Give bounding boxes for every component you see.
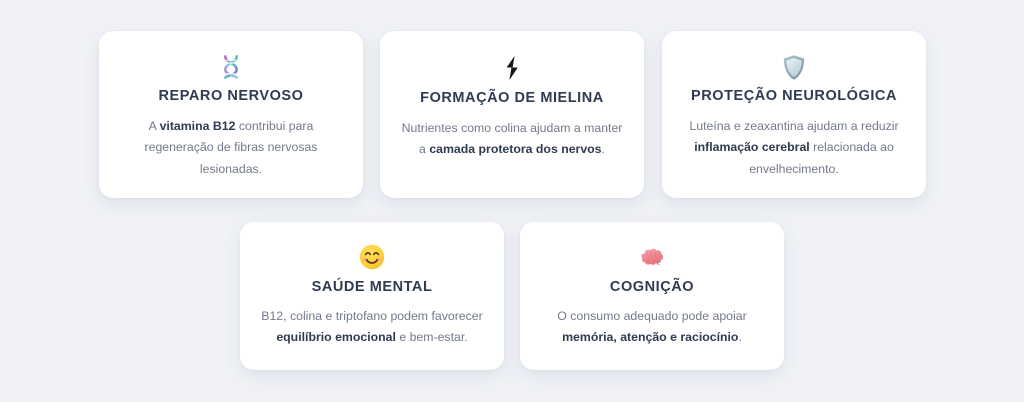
emphasis-text: vitamina B12 [160, 119, 236, 133]
emphasis-text: inflamação cerebral [694, 140, 810, 154]
emphasis-text: equilíbrio emocional [276, 330, 396, 344]
shield-icon [782, 53, 806, 81]
benefit-card-title: FORMAÇÃO DE MIELINA [420, 89, 604, 107]
benefit-card-title: PROTEÇÃO NEUROLÓGICA [691, 87, 897, 105]
benefit-card-title: SAÚDE MENTAL [312, 278, 433, 296]
emphasis-text: memória, atenção e raciocínio [562, 330, 738, 344]
brain-icon [639, 242, 666, 272]
smiling-face-icon [359, 242, 385, 272]
benefit-card[interactable]: PROTEÇÃO NEUROLÓGICA Luteína e zeaxantin… [662, 31, 926, 198]
benefit-card-title: COGNIÇÃO [610, 278, 694, 296]
benefit-card-text: O consumo adequado pode apoiar memória, … [538, 306, 766, 349]
benefit-card[interactable]: COGNIÇÃO O consumo adequado pode apoiar … [520, 222, 784, 370]
benefit-card[interactable]: SAÚDE MENTAL B12, colina e triptofano po… [240, 222, 504, 370]
benefits-card-grid: REPARO NERVOSO A vitamina B12 contribui … [0, 0, 1024, 402]
emphasis-text: camada protetora dos nervos [429, 142, 601, 156]
benefit-card-text: B12, colina e triptofano podem favorecer… [258, 306, 486, 349]
lightning-bolt-icon [501, 53, 523, 83]
dna-icon [218, 53, 244, 81]
benefit-card[interactable]: REPARO NERVOSO A vitamina B12 contribui … [99, 31, 363, 198]
benefit-card-text: A vitamina B12 contribui para regeneraçã… [119, 116, 343, 180]
benefit-card[interactable]: FORMAÇÃO DE MIELINA Nutrientes como coli… [380, 31, 644, 198]
benefit-card-text: Luteína e zeaxantina ajudam a reduzir in… [682, 116, 906, 180]
benefit-card-text: Nutrientes como colina ajudam a manter a… [400, 118, 624, 161]
benefit-card-title: REPARO NERVOSO [159, 87, 304, 105]
